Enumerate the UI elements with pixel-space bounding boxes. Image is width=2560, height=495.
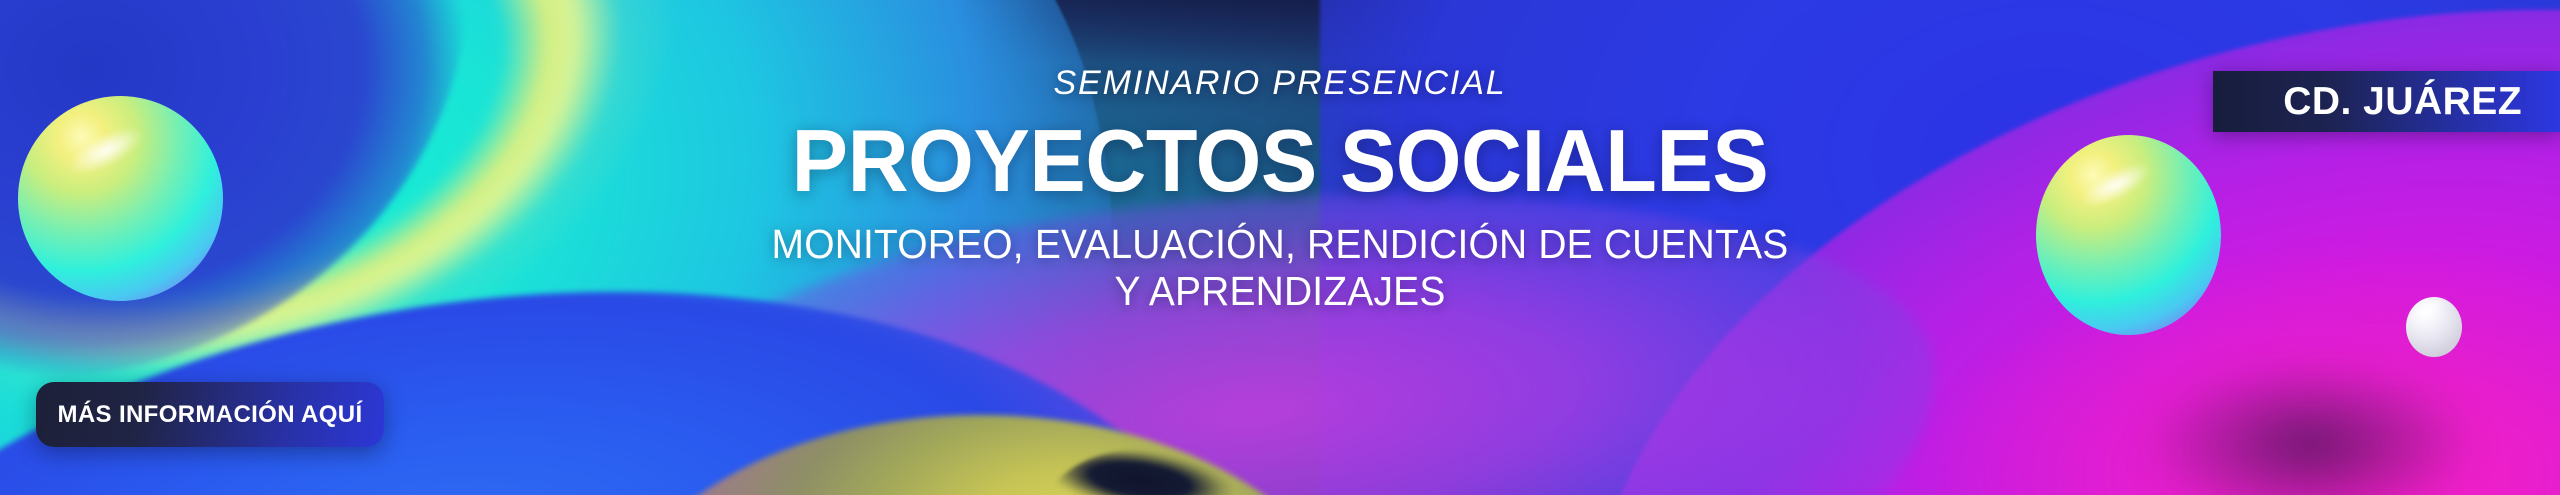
banner-headline: PROYECTOS SOCIALES: [51, 114, 2509, 207]
city-badge: CD. JUÁREZ: [2213, 71, 2560, 132]
banner-subtitle-line-2: Y APRENDIZAJES: [64, 268, 2496, 315]
more-info-button[interactable]: MÁS INFORMACIÓN AQUÍ: [36, 382, 384, 447]
banner-subtitle: MONITOREO, EVALUACIÓN, RENDICIÓN DE CUEN…: [64, 221, 2496, 314]
banner-text-stack: SEMINARIO PRESENCIAL PROYECTOS SOCIALES …: [0, 66, 2560, 315]
banner-content: SEMINARIO PRESENCIAL PROYECTOS SOCIALES …: [0, 0, 2560, 495]
city-badge-label: CD. JUÁREZ: [2283, 82, 2522, 121]
banner-kicker: SEMINARIO PRESENCIAL: [0, 66, 2560, 100]
event-banner: SEMINARIO PRESENCIAL PROYECTOS SOCIALES …: [0, 0, 2560, 495]
banner-subtitle-line-1: MONITOREO, EVALUACIÓN, RENDICIÓN DE CUEN…: [64, 221, 2496, 268]
more-info-button-label: MÁS INFORMACIÓN AQUÍ: [58, 403, 363, 427]
